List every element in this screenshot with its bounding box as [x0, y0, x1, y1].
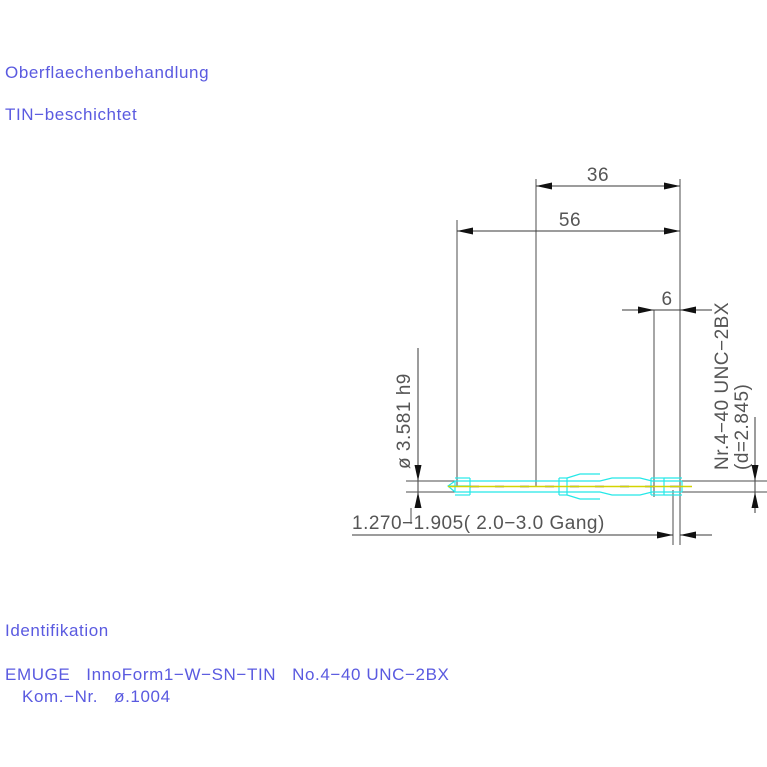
drawing-sheet: Oberflaechenbehandlung TIN−beschichtet I…	[0, 0, 767, 767]
arrow-thread-right-bottom	[752, 492, 759, 508]
arrow-pitch-left	[657, 532, 673, 539]
arrow-56-left	[457, 228, 473, 235]
arrow-diameter-bottom	[415, 492, 422, 508]
arrow-thread-right-top	[752, 465, 759, 481]
arrow-diameter-top	[415, 465, 422, 481]
arrow-pitch-right	[680, 532, 696, 539]
dimension-label-thread-spec: Nr.4−40 UNC−2BX	[712, 302, 733, 470]
arrow-6-left	[638, 307, 654, 314]
dimension-label-6: 6	[661, 289, 672, 310]
dimension-label-56: 56	[559, 210, 581, 231]
arrow-6-right	[680, 307, 696, 314]
arrow-56-right	[664, 228, 680, 235]
dimension-label-pitch: 1.270−1.905( 2.0−3.0 Gang)	[352, 513, 605, 534]
dimension-label-36: 36	[587, 165, 609, 186]
arrow-36-right	[664, 183, 680, 190]
arrow-36-left	[536, 183, 552, 190]
dimension-label-thread-core: (d=2.845)	[732, 384, 753, 470]
technical-drawing-canvas: 36 56 6 ø 3.581 h9 Nr.4−40 UNC−2BX (d=2.…	[0, 0, 767, 767]
dimension-label-diameter: ø 3.581 h9	[394, 373, 415, 469]
